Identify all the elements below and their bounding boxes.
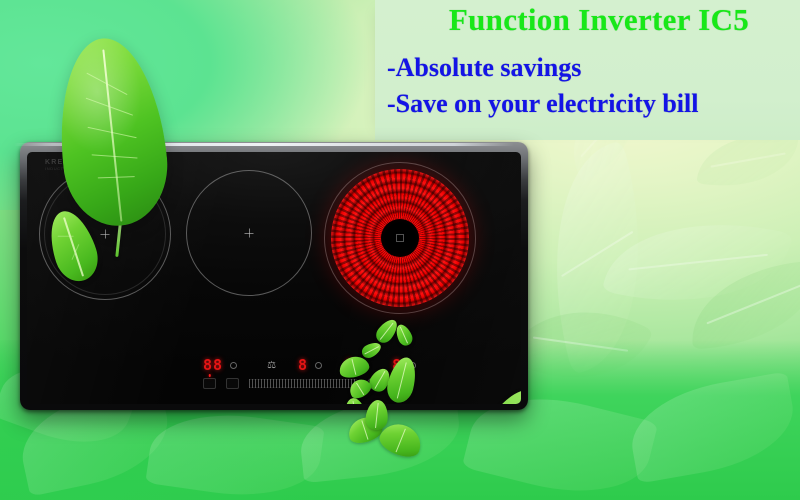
power-icon: ⏻ bbox=[390, 380, 396, 388]
cooking-zone-right-heating[interactable] bbox=[331, 169, 469, 307]
power-button[interactable]: ⏻ bbox=[388, 378, 399, 389]
marketing-banner: Function Inverter IC5 -Absolute savings … bbox=[375, 0, 800, 140]
function-button[interactable] bbox=[226, 378, 239, 389]
brand-name-top: KREA bbox=[45, 159, 70, 166]
timer-button[interactable] bbox=[203, 378, 216, 389]
cooktop-glass-surface: KREA INDUCTION 88 ⚖ 8 bbox=[27, 152, 521, 404]
brand-sub-top: INDUCTION bbox=[45, 166, 73, 171]
brand-logo-top-left: KREA INDUCTION bbox=[45, 159, 73, 171]
zone-center-marker-icon bbox=[381, 219, 419, 257]
foreground-leaf-icon bbox=[373, 316, 402, 346]
foreground-leaf-icon bbox=[393, 322, 415, 348]
zone-indicator-dot-icon bbox=[409, 362, 416, 369]
control-panel: 88 ⚖ 8 8 8 ⏻ bbox=[27, 348, 521, 404]
cooking-zone-center[interactable] bbox=[186, 170, 312, 296]
bullet-line-1: -Absolute savings bbox=[387, 53, 581, 83]
zone-display-3: 8 bbox=[392, 356, 402, 374]
led-display: 88 ⚖ 8 8 8 bbox=[203, 356, 416, 374]
zone-display-2: 8 bbox=[345, 356, 355, 374]
zone-center-marker-icon bbox=[245, 229, 254, 238]
boost-button[interactable] bbox=[367, 378, 378, 389]
cooking-zone-left-inner-ring bbox=[44, 173, 166, 295]
power-level-slider[interactable] bbox=[249, 379, 357, 388]
zone-display-1: 8 bbox=[298, 356, 308, 374]
bullet-line-2: -Save on your electricity bill bbox=[387, 89, 698, 119]
page-title: Function Inverter IC5 bbox=[403, 2, 795, 38]
timer-indicator-dot-icon bbox=[230, 362, 237, 369]
timer-display: 88 bbox=[203, 356, 223, 374]
touch-controls: ⏻ bbox=[203, 378, 399, 389]
zone-indicator-dot-icon bbox=[362, 362, 369, 369]
zone-indicator-dot-icon bbox=[315, 362, 322, 369]
lock-icon: ⚖ bbox=[267, 360, 275, 371]
poster-canvas: Function Inverter IC5 -Absolute savings … bbox=[0, 0, 800, 500]
